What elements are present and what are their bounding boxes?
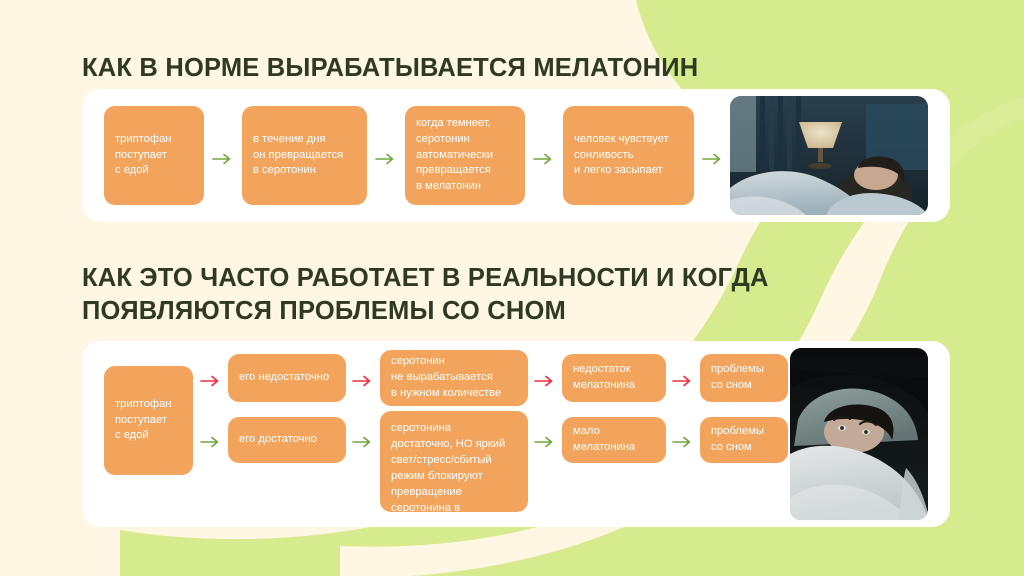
flow-box-normal-2: в течение дня он превращается в серотони… [242,106,367,205]
arrow-right-icon-reality-top-4 [672,374,694,388]
flow-box-reality-top-3: недостаток мелатонина [562,354,666,402]
flow-card-normal: триптофан поступает с едой в течение дня… [82,89,950,222]
awake-woman-photo [790,348,928,520]
arrow-right-icon-reality-top-1 [200,374,222,388]
arrow-right-icon-normal-3 [533,152,555,166]
arrow-right-icon-reality-bottom-4 [672,435,694,449]
arrow-right-icon-reality-bottom-3 [534,435,556,449]
flow-box-normal-3: когда темнеет, серотонин автоматически п… [405,106,525,205]
arrow-right-icon-normal-4 [702,152,724,166]
section-title-normal: КАК В НОРМЕ ВЫРАБАТЫВАЕТСЯ МЕЛАТОНИН [82,52,698,85]
flow-box-reality-bottom-4: проблемы со сном [700,417,788,463]
arrow-right-icon-normal-2 [375,152,397,166]
arrow-right-icon-reality-bottom-2 [352,435,374,449]
section-title-reality: КАК ЭТО ЧАСТО РАБОТАЕТ В РЕАЛЬНОСТИ И КО… [82,262,842,327]
arrow-right-icon-reality-top-2 [352,374,374,388]
flow-card-reality: триптофан поступает с едой его недостато… [82,341,950,527]
arrow-right-icon-normal-1 [212,152,234,166]
flow-box-reality-top-4: проблемы со сном [700,354,788,402]
flow-box-normal-4: человек чувствует сонливость и легко зас… [563,106,694,205]
arrow-right-icon-reality-bottom-1 [200,435,222,449]
flow-box-reality-bottom-3: мало мелатонина [562,417,666,463]
flow-box-reality-start: триптофан поступает с едой [104,366,193,475]
flow-box-reality-bottom-2: серотонина достаточно, НО яркий свет/стр… [380,411,528,512]
flow-box-reality-bottom-1: его достаточно [228,417,346,463]
arrow-right-icon-reality-top-3 [534,374,556,388]
sleeping-woman-photo [730,96,928,215]
flow-box-reality-top-1: его недостаточно [228,354,346,402]
flow-box-normal-1: триптофан поступает с едой [104,106,204,205]
flow-box-reality-top-2: серотонин не вырабатывается в нужном кол… [380,350,528,406]
